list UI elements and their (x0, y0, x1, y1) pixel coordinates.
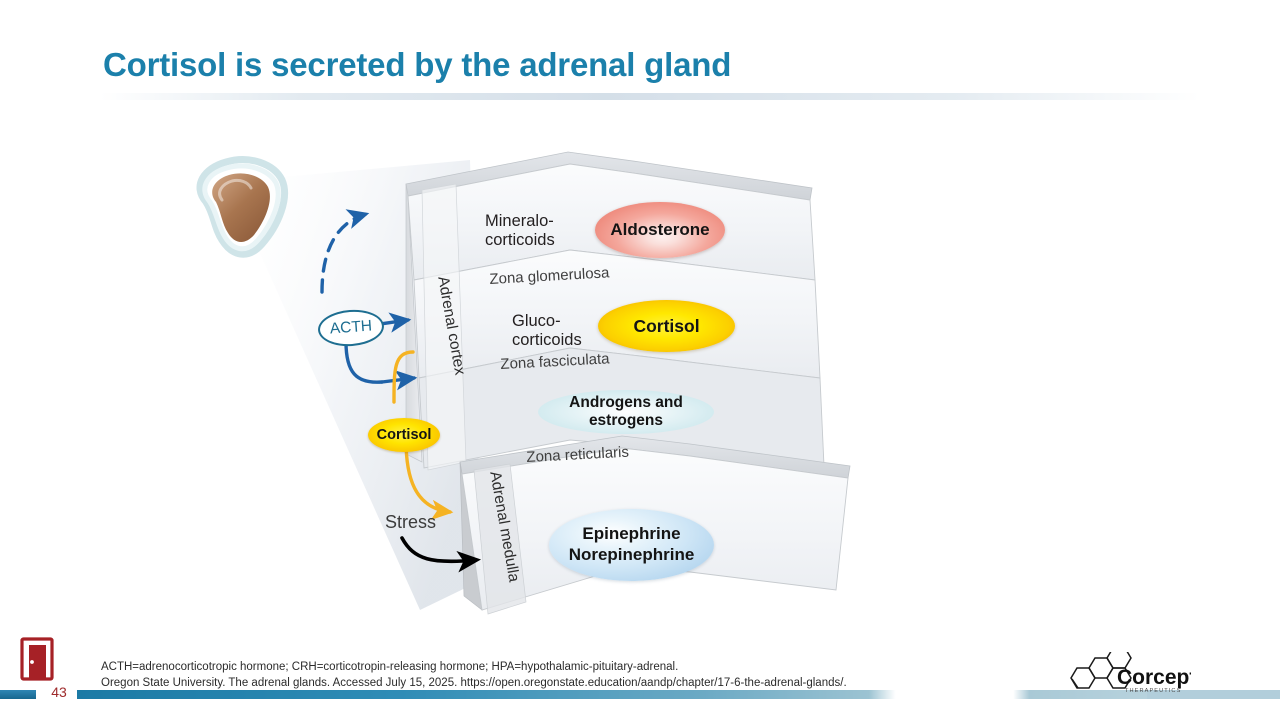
door-icon (18, 637, 58, 683)
hormone-bubble-aldosterone: Aldosterone (595, 202, 725, 258)
corcept-tagline: THERAPEUTICS (1125, 688, 1181, 694)
title-divider (100, 93, 1200, 100)
slide-canvas: Cortisol is secreted by the adrenal glan… (0, 0, 1280, 720)
footnote-abbreviations: ACTH=adrenocorticotropic hormone; CRH=co… (101, 659, 847, 675)
hormone-class-mineralocorticoids: Mineralo- corticoids (485, 212, 555, 250)
cortisol-signal-bubble: Cortisol (368, 418, 440, 452)
stress-label: Stress (385, 512, 436, 533)
adrenal-gland-diagram: Mineralo- corticoids Zona glomerulosa Gl… (170, 140, 870, 640)
hormone-bubble-cortisol: Cortisol (598, 300, 735, 352)
corcept-wordmark: Corcept (1117, 666, 1191, 689)
hormone-bubble-epinephrine-norepinephrine: Epinephrine Norepinephrine (549, 509, 714, 581)
hormone-bubble-androgens-estrogens: Androgens and estrogens (538, 390, 714, 434)
page-number: 43 (45, 684, 73, 700)
corcept-logo: Corcept THERAPEUTICS (1063, 652, 1191, 696)
footer-bar-left (0, 690, 36, 699)
footer-bar-main (77, 690, 1147, 699)
footnotes: ACTH=adrenocorticotropic hormone; CRH=co… (101, 659, 847, 692)
page-title: Cortisol is secreted by the adrenal glan… (103, 46, 731, 84)
hormone-class-glucocorticoids: Gluco- corticoids (512, 312, 582, 350)
